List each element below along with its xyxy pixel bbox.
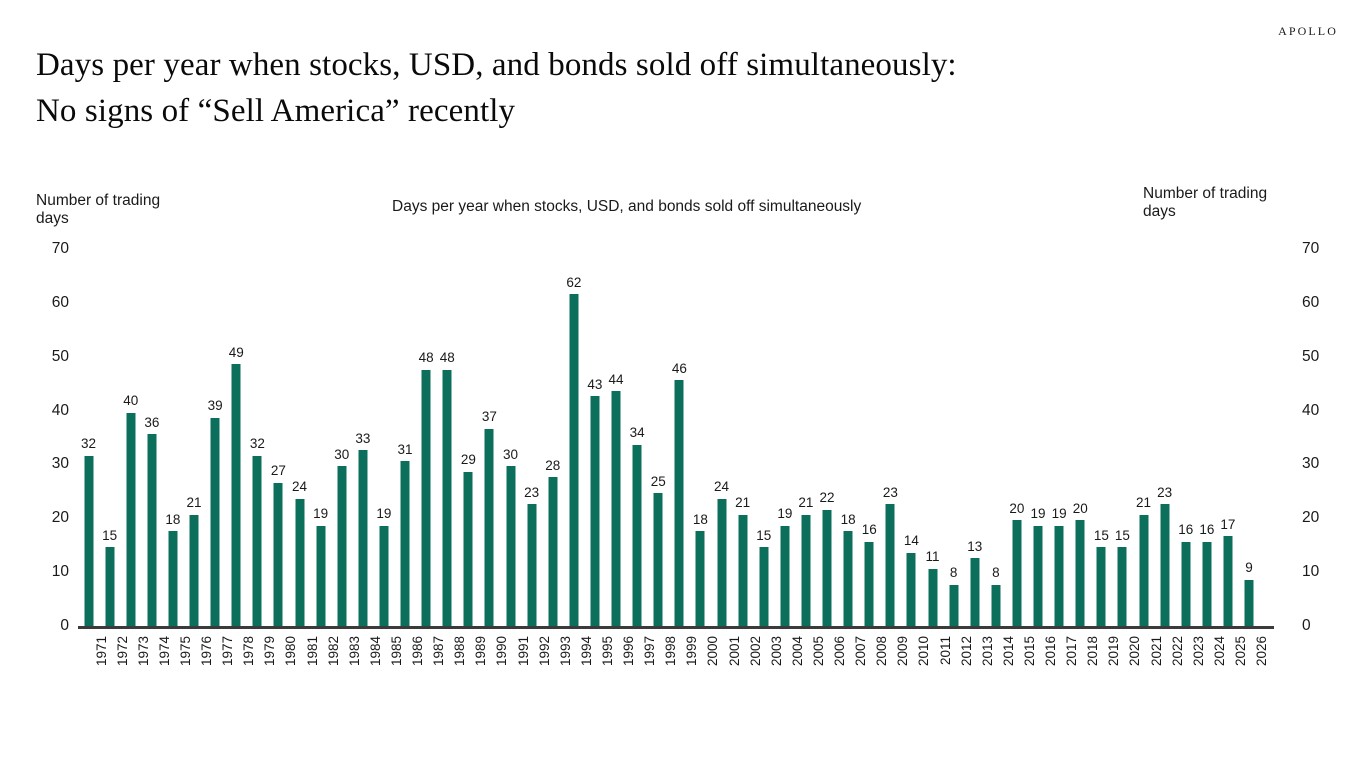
x-tick-2002: 2002 [749, 636, 763, 666]
y-tick-right-30: 30 [1302, 456, 1319, 472]
bar-value-2014: 8 [992, 566, 1000, 580]
bar-1995[interactable] [590, 396, 599, 628]
bar-column[interactable]: 37 [479, 244, 500, 628]
bar-1979[interactable] [253, 456, 262, 628]
bar-1981[interactable] [295, 499, 304, 628]
bar-value-1996: 44 [609, 373, 624, 387]
bar-value-2013: 13 [967, 540, 982, 554]
bar-value-1973: 40 [123, 394, 138, 408]
x-tick-2013: 2013 [981, 636, 995, 666]
chart-subtitle: Days per year when stocks, USD, and bond… [392, 198, 861, 216]
x-tick-1989: 1989 [474, 636, 488, 666]
x-tick-1988: 1988 [453, 636, 467, 666]
bar-column[interactable]: 30 [331, 244, 352, 628]
bar-value-2007: 18 [841, 513, 856, 527]
bar-value-1992: 23 [524, 486, 539, 500]
bar-column[interactable]: 18 [690, 244, 711, 628]
bar-value-1997: 34 [630, 426, 645, 440]
x-tick-1976: 1976 [200, 636, 214, 666]
x-tick-1973: 1973 [137, 636, 151, 666]
bar-value-1990: 37 [482, 410, 497, 424]
x-tick-2003: 2003 [770, 636, 784, 666]
bar-column[interactable]: 48 [416, 244, 437, 628]
bar-value-1971: 32 [81, 437, 96, 451]
bar-value-2011: 11 [926, 550, 940, 564]
bar-value-1993: 28 [545, 459, 560, 473]
bar-column[interactable]: 16 [859, 244, 880, 628]
bar-column[interactable]: 15 [99, 244, 120, 628]
x-tick-2026: 2026 [1255, 636, 1269, 666]
x-tick-1990: 1990 [495, 636, 509, 666]
bar-2020[interactable] [1118, 547, 1127, 628]
x-axis-line [78, 626, 1274, 629]
bar-value-2006: 22 [820, 491, 835, 505]
bar-1999[interactable] [675, 380, 684, 628]
bar-1991[interactable] [506, 466, 515, 628]
x-tick-2012: 2012 [960, 636, 974, 666]
bar-column[interactable]: 21 [732, 244, 753, 628]
bar-column[interactable]: 14 [901, 244, 922, 628]
x-tick-2017: 2017 [1065, 636, 1079, 666]
bar-1971[interactable] [84, 456, 93, 628]
x-tick-2006: 2006 [833, 636, 847, 666]
bar-value-1974: 36 [144, 416, 159, 430]
bar-1996[interactable] [612, 391, 621, 628]
y-tick-left-20: 20 [52, 510, 69, 526]
bar-value-2024: 16 [1199, 523, 1214, 537]
x-tick-1991: 1991 [517, 636, 531, 666]
bar-value-1976: 21 [187, 496, 202, 510]
bar-column[interactable]: 23 [1154, 244, 1175, 628]
bar-column[interactable]: 23 [521, 244, 542, 628]
y-tick-right-0: 0 [1302, 618, 1311, 634]
bar-2004[interactable] [780, 526, 789, 628]
x-tick-2021: 2021 [1150, 636, 1164, 666]
bar-value-2016: 19 [1031, 507, 1046, 521]
bar-1987[interactable] [422, 370, 431, 629]
bar-value-1998: 25 [651, 475, 666, 489]
x-tick-2005: 2005 [812, 636, 826, 666]
bar-value-1991: 30 [503, 448, 518, 462]
bar-value-2002: 21 [735, 496, 750, 510]
y-tick-left-60: 60 [52, 295, 69, 311]
bar-value-2021: 21 [1136, 496, 1151, 510]
bar-value-2025: 17 [1220, 518, 1235, 532]
bar-2003[interactable] [759, 547, 768, 628]
bar-column[interactable]: 49 [226, 244, 247, 628]
bar-column[interactable]: 16 [1175, 244, 1196, 628]
x-tick-2009: 2009 [896, 636, 910, 666]
x-tick-2024: 2024 [1213, 636, 1227, 666]
bar-column[interactable]: 24 [289, 244, 310, 628]
bar-column[interactable]: 31 [395, 244, 416, 628]
bar-2019[interactable] [1097, 547, 1106, 628]
bar-1984[interactable] [358, 450, 367, 628]
bar-column[interactable]: 22 [817, 244, 838, 628]
bar-2012[interactable] [949, 585, 958, 628]
bar-value-2015: 20 [1009, 502, 1024, 516]
bar-chart: Number of trading days Number of trading… [0, 0, 1366, 768]
y-tick-left-40: 40 [52, 403, 69, 419]
bar-value-2026: 9 [1245, 561, 1253, 575]
bar-2001[interactable] [717, 499, 726, 628]
bar-column[interactable]: 19 [310, 244, 331, 628]
x-tick-2016: 2016 [1044, 636, 1058, 666]
x-tick-1972: 1972 [116, 636, 130, 666]
bar-value-2010: 14 [904, 534, 919, 548]
x-tick-1997: 1997 [643, 636, 657, 666]
x-tick-2015: 2015 [1023, 636, 1037, 666]
bar-2025[interactable] [1223, 536, 1232, 628]
x-tick-2001: 2001 [728, 636, 742, 666]
bar-2013[interactable] [970, 558, 979, 628]
bar-column[interactable]: 48 [437, 244, 458, 628]
bar-value-2018: 20 [1073, 502, 1088, 516]
bar-column[interactable]: 28 [542, 244, 563, 628]
x-tick-2014: 2014 [1002, 636, 1016, 666]
bar-column[interactable]: 15 [753, 244, 774, 628]
bar-column[interactable]: 46 [669, 244, 690, 628]
bar-2005[interactable] [801, 515, 810, 628]
x-tick-1985: 1985 [390, 636, 404, 666]
bar-column[interactable]: 29 [458, 244, 479, 628]
bar-2007[interactable] [844, 531, 853, 628]
bar-1980[interactable] [274, 483, 283, 628]
bar-2026[interactable] [1245, 580, 1254, 628]
bar-value-1979: 32 [250, 437, 265, 451]
bar-column[interactable]: 62 [563, 244, 584, 628]
bar-column[interactable]: 39 [205, 244, 226, 628]
bar-value-2004: 19 [777, 507, 792, 521]
bar-2010[interactable] [907, 553, 916, 628]
x-tick-2008: 2008 [875, 636, 889, 666]
x-tick-2004: 2004 [791, 636, 805, 666]
y-axis-label-right: Number of trading days [1143, 185, 1343, 222]
bar-2000[interactable] [696, 531, 705, 628]
bar-value-1986: 31 [398, 443, 413, 457]
bar-value-2000: 18 [693, 513, 708, 527]
bar-1992[interactable] [527, 504, 536, 628]
bar-value-1987: 48 [419, 351, 434, 365]
bar-column[interactable]: 19 [774, 244, 795, 628]
bar-column[interactable]: 9 [1239, 244, 1260, 628]
bar-column[interactable]: 21 [184, 244, 205, 628]
bar-2008[interactable] [865, 542, 874, 628]
bar-1985[interactable] [379, 526, 388, 628]
bar-2023[interactable] [1181, 542, 1190, 628]
bar-value-1985: 19 [376, 507, 391, 521]
bar-value-1975: 18 [165, 513, 180, 527]
bar-value-2019: 15 [1094, 529, 1109, 543]
bar-value-1995: 43 [587, 378, 602, 392]
bar-2016[interactable] [1034, 526, 1043, 628]
bar-2021[interactable] [1139, 515, 1148, 628]
bar-column[interactable]: 20 [1006, 244, 1027, 628]
bar-value-1988: 48 [440, 351, 455, 365]
bar-1976[interactable] [190, 515, 199, 628]
bar-1983[interactable] [337, 466, 346, 628]
bar-value-2003: 15 [756, 529, 771, 543]
x-tick-1998: 1998 [664, 636, 678, 666]
bar-value-1994: 62 [566, 276, 581, 290]
bar-value-1982: 19 [313, 507, 328, 521]
x-tick-2000: 2000 [706, 636, 720, 666]
y-axis-label-left: Number of trading days [36, 192, 226, 229]
y-tick-right-70: 70 [1302, 241, 1319, 257]
bar-1993[interactable] [548, 477, 557, 628]
x-tick-1975: 1975 [179, 636, 193, 666]
bar-1973[interactable] [126, 413, 135, 628]
bar-column[interactable]: 40 [120, 244, 141, 628]
y-tick-left-50: 50 [52, 349, 69, 365]
bar-column[interactable]: 21 [795, 244, 816, 628]
y-tick-right-40: 40 [1302, 403, 1319, 419]
bar-1975[interactable] [168, 531, 177, 628]
bar-value-2009: 23 [883, 486, 898, 500]
bar-value-2022: 23 [1157, 486, 1172, 500]
bar-column[interactable]: 24 [711, 244, 732, 628]
x-tick-2010: 2010 [917, 636, 931, 666]
bar-column[interactable]: 18 [162, 244, 183, 628]
x-tick-1987: 1987 [432, 636, 446, 666]
y-tick-right-50: 50 [1302, 349, 1319, 365]
x-tick-1996: 1996 [622, 636, 636, 666]
bar-column[interactable]: 34 [627, 244, 648, 628]
bar-2009[interactable] [886, 504, 895, 628]
bar-value-1983: 30 [334, 448, 349, 462]
x-tick-1984: 1984 [369, 636, 383, 666]
bar-column[interactable]: 15 [1112, 244, 1133, 628]
bar-column[interactable]: 15 [1091, 244, 1112, 628]
bar-column[interactable]: 19 [1028, 244, 1049, 628]
x-tick-1971: 1971 [95, 636, 109, 666]
bar-value-2020: 15 [1115, 529, 1130, 543]
x-tick-1974: 1974 [158, 636, 172, 666]
x-tick-1994: 1994 [580, 636, 594, 666]
bar-1989[interactable] [464, 472, 473, 628]
x-tick-1982: 1982 [327, 636, 341, 666]
bar-1972[interactable] [105, 547, 114, 628]
x-tick-2025: 2025 [1234, 636, 1248, 666]
bar-1994[interactable] [569, 294, 578, 628]
bar-column[interactable]: 8 [943, 244, 964, 628]
bar-1998[interactable] [654, 493, 663, 628]
bar-value-2017: 19 [1052, 507, 1067, 521]
bar-value-1989: 29 [461, 453, 476, 467]
x-tick-1995: 1995 [601, 636, 615, 666]
bar-2002[interactable] [738, 515, 747, 628]
bar-column[interactable]: 36 [141, 244, 162, 628]
x-tick-2020: 2020 [1128, 636, 1142, 666]
bar-value-1978: 49 [229, 346, 244, 360]
bar-column[interactable]: 16 [1196, 244, 1217, 628]
x-tick-1999: 1999 [685, 636, 699, 666]
bar-value-2005: 21 [798, 496, 813, 510]
y-tick-left-10: 10 [52, 564, 69, 580]
x-tick-2022: 2022 [1171, 636, 1185, 666]
x-tick-2018: 2018 [1086, 636, 1100, 666]
bar-column[interactable]: 21 [1133, 244, 1154, 628]
bar-value-1977: 39 [208, 399, 223, 413]
bar-value-1980: 27 [271, 464, 286, 478]
bar-1977[interactable] [211, 418, 220, 628]
x-tick-1978: 1978 [242, 636, 256, 666]
x-tick-1981: 1981 [306, 636, 320, 666]
bar-2018[interactable] [1076, 520, 1085, 628]
x-tick-2019: 2019 [1107, 636, 1121, 666]
x-tick-2007: 2007 [854, 636, 868, 666]
bar-column[interactable]: 23 [880, 244, 901, 628]
bar-column[interactable]: 30 [500, 244, 521, 628]
x-tick-1979: 1979 [263, 636, 277, 666]
bar-column[interactable]: 17 [1217, 244, 1238, 628]
x-tick-1992: 1992 [538, 636, 552, 666]
bar-1988[interactable] [443, 370, 452, 629]
y-tick-right-60: 60 [1302, 295, 1319, 311]
bar-column[interactable]: 43 [584, 244, 605, 628]
bar-2022[interactable] [1160, 504, 1169, 628]
bar-2011[interactable] [928, 569, 937, 628]
bar-value-2012: 8 [950, 566, 958, 580]
bar-2014[interactable] [991, 585, 1000, 628]
bar-column[interactable]: 33 [352, 244, 373, 628]
x-tick-1986: 1986 [411, 636, 425, 666]
bar-2015[interactable] [1012, 520, 1021, 628]
x-tick-1980: 1980 [284, 636, 298, 666]
x-tick-2023: 2023 [1192, 636, 1206, 666]
y-tick-right-10: 10 [1302, 564, 1319, 580]
bar-value-1972: 15 [102, 529, 117, 543]
bar-column[interactable]: 18 [838, 244, 859, 628]
bar-column[interactable]: 20 [1070, 244, 1091, 628]
bar-column[interactable]: 13 [964, 244, 985, 628]
bar-1982[interactable] [316, 526, 325, 628]
x-tick-1993: 1993 [559, 636, 573, 666]
y-tick-left-30: 30 [52, 456, 69, 472]
bar-column[interactable]: 19 [373, 244, 394, 628]
bar-column[interactable]: 32 [78, 244, 99, 628]
bar-2024[interactable] [1202, 542, 1211, 628]
bar-1986[interactable] [401, 461, 410, 628]
bar-1997[interactable] [633, 445, 642, 628]
y-tick-left-70: 70 [52, 241, 69, 257]
bar-value-2023: 16 [1178, 523, 1193, 537]
bar-2006[interactable] [823, 510, 832, 628]
bar-value-1981: 24 [292, 480, 307, 494]
x-tick-2011: 2011 [939, 636, 953, 665]
y-tick-left-0: 0 [60, 618, 69, 634]
bar-value-2008: 16 [862, 523, 877, 537]
x-tick-1983: 1983 [348, 636, 362, 666]
bar-column[interactable]: 11 [922, 244, 943, 628]
bar-column[interactable]: 44 [606, 244, 627, 628]
bar-column[interactable]: 27 [268, 244, 289, 628]
bar-value-1999: 46 [672, 362, 687, 376]
bar-column[interactable]: 8 [985, 244, 1006, 628]
bar-1974[interactable] [147, 434, 156, 628]
bar-column[interactable]: 25 [648, 244, 669, 628]
bar-value-2001: 24 [714, 480, 729, 494]
y-tick-right-20: 20 [1302, 510, 1319, 526]
bar-value-1984: 33 [355, 432, 370, 446]
bar-1978[interactable] [232, 364, 241, 628]
x-tick-1977: 1977 [221, 636, 235, 666]
bar-column[interactable]: 32 [247, 244, 268, 628]
bar-1990[interactable] [485, 429, 494, 628]
bar-2017[interactable] [1055, 526, 1064, 628]
bar-column[interactable]: 19 [1049, 244, 1070, 628]
plot-area: 3215403618213949322724193033193148482937… [78, 244, 1271, 628]
